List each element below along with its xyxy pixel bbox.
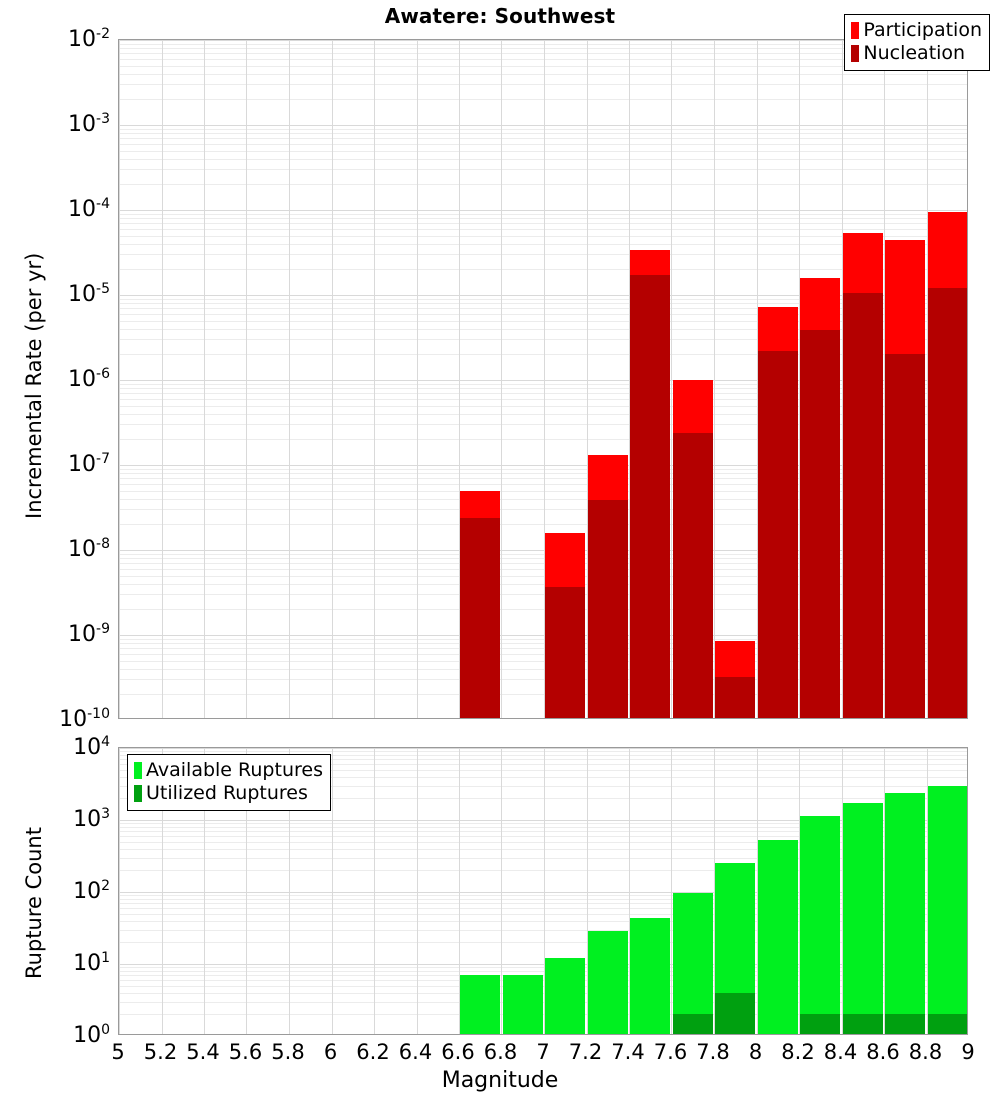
x-axis-tick: 7 [536, 1040, 549, 1064]
x-axis-label: Magnitude [0, 1068, 1000, 1093]
bar-stack [758, 307, 798, 719]
y-axis-label-bottom: Rupture Count [22, 827, 46, 979]
bar-stack [588, 931, 628, 1035]
x-axis-tick: 9 [961, 1040, 974, 1064]
y-axis-tick: 10-5 [0, 282, 110, 306]
x-axis-tick: 7.8 [696, 1040, 729, 1064]
y-axis-label-top: Incremental Rate (per yr) [22, 253, 46, 519]
bar-stack [545, 533, 585, 719]
bar-stack [503, 975, 543, 1035]
bar-segment-utilized-ruptures [673, 1014, 713, 1035]
bar-segment-nucleation [630, 275, 670, 719]
legend-item: Nucleation [851, 42, 982, 65]
x-axis-tick: 8.4 [824, 1040, 857, 1064]
y-axis-tick: 10-9 [0, 622, 110, 646]
bar-stack [843, 233, 883, 719]
x-axis-tick: 8.2 [781, 1040, 814, 1064]
bar-segment-utilized-ruptures [843, 1014, 883, 1035]
y-axis-tick: 10-6 [0, 367, 110, 391]
bar-segment-utilized-ruptures [928, 1014, 968, 1035]
bar-stack [673, 893, 713, 1035]
x-axis-tick: 7.4 [611, 1040, 644, 1064]
bar-stack [758, 840, 798, 1035]
x-axis-tick: 6 [324, 1040, 337, 1064]
bar-segment-available-ruptures [885, 793, 925, 1035]
legend-swatch-icon [851, 22, 859, 39]
bar-segment-nucleation [460, 518, 500, 719]
y-axis-tick: 10-3 [0, 112, 110, 136]
bar-segment-available-ruptures [843, 803, 883, 1036]
legend-item-label: Nucleation [863, 42, 965, 65]
y-axis-tick: 101 [0, 951, 110, 975]
bar-stack [545, 958, 585, 1035]
bar-stack [460, 975, 500, 1035]
bar-stack [715, 641, 755, 719]
bar-segment-nucleation [885, 354, 925, 719]
bar-stack [673, 380, 713, 719]
legend-incremental-rate: ParticipationNucleation [844, 14, 990, 71]
x-axis-tick: 5 [111, 1040, 124, 1064]
bar-segment-utilized-ruptures [800, 1014, 840, 1035]
incremental-rate-plot [118, 39, 968, 719]
bar-stack [460, 491, 500, 719]
legend-item: Participation [851, 19, 982, 42]
bar-segment-available-ruptures [503, 975, 543, 1035]
legend-swatch-icon [134, 785, 142, 802]
legend-swatch-icon [134, 762, 142, 779]
x-axis-tick: 5.6 [229, 1040, 262, 1064]
bar-segment-available-ruptures [588, 931, 628, 1035]
bar-stack [843, 803, 883, 1036]
bar-segment-utilized-ruptures [885, 1014, 925, 1035]
x-axis-tick: 5.2 [144, 1040, 177, 1064]
y-axis-tick: 10-4 [0, 197, 110, 221]
bar-segment-available-ruptures [460, 975, 500, 1035]
legend-item-label: Participation [863, 19, 982, 42]
bar-stack [800, 816, 840, 1035]
bar-segment-available-ruptures [545, 958, 585, 1035]
bar-segment-nucleation [758, 351, 798, 719]
x-axis-tick: 5.4 [186, 1040, 219, 1064]
legend-item-label: Utilized Ruptures [146, 782, 308, 805]
y-axis-tick: 10-2 [0, 27, 110, 51]
bar-stack [928, 786, 968, 1035]
y-axis-tick: 100 [0, 1023, 110, 1047]
legend-item: Utilized Ruptures [134, 782, 323, 805]
x-axis-tick: 8 [749, 1040, 762, 1064]
legend-item-label: Available Ruptures [146, 759, 323, 782]
bar-segment-nucleation [673, 433, 713, 719]
x-axis-tick: 5.8 [271, 1040, 304, 1064]
bar-stack [885, 240, 925, 719]
x-axis-tick: 6.8 [484, 1040, 517, 1064]
figure: Awatere: Southwest ParticipationNucleati… [0, 0, 1000, 1100]
bar-segment-available-ruptures [800, 816, 840, 1035]
bars-top [119, 40, 967, 718]
x-axis-tick: 7.2 [569, 1040, 602, 1064]
legend-swatch-icon [851, 45, 859, 62]
bar-segment-available-ruptures [758, 840, 798, 1035]
x-axis-tick: 8.8 [909, 1040, 942, 1064]
y-axis-tick: 104 [0, 735, 110, 759]
x-axis-tick: 6.4 [399, 1040, 432, 1064]
x-axis-tick: 7.6 [654, 1040, 687, 1064]
bar-stack [885, 793, 925, 1035]
bar-segment-nucleation [588, 500, 628, 719]
bar-segment-utilized-ruptures [715, 993, 755, 1035]
y-axis-tick: 102 [0, 879, 110, 903]
y-axis-tick: 10-7 [0, 452, 110, 476]
bar-stack [630, 918, 670, 1035]
bar-stack [715, 863, 755, 1035]
y-axis-tick: 10-8 [0, 537, 110, 561]
x-axis-tick: 8.6 [866, 1040, 899, 1064]
bar-stack [800, 278, 840, 719]
x-axis-tick: 6.2 [356, 1040, 389, 1064]
bar-segment-nucleation [545, 587, 585, 719]
bar-segment-nucleation [928, 288, 968, 719]
x-axis-tick: 6.6 [441, 1040, 474, 1064]
y-axis-tick: 10-10 [0, 707, 110, 731]
legend-item: Available Ruptures [134, 759, 323, 782]
bar-segment-nucleation [800, 330, 840, 719]
bar-segment-available-ruptures [630, 918, 670, 1035]
y-axis-tick: 103 [0, 807, 110, 831]
legend-rupture-count: Available RupturesUtilized Ruptures [127, 754, 331, 811]
bar-stack [630, 250, 670, 719]
bar-segment-nucleation [843, 293, 883, 719]
bar-segment-nucleation [715, 677, 755, 719]
rupture-count-plot: Available RupturesUtilized Ruptures [118, 747, 968, 1035]
bar-segment-available-ruptures [928, 786, 968, 1035]
bar-stack [928, 212, 968, 719]
bar-stack [588, 455, 628, 719]
